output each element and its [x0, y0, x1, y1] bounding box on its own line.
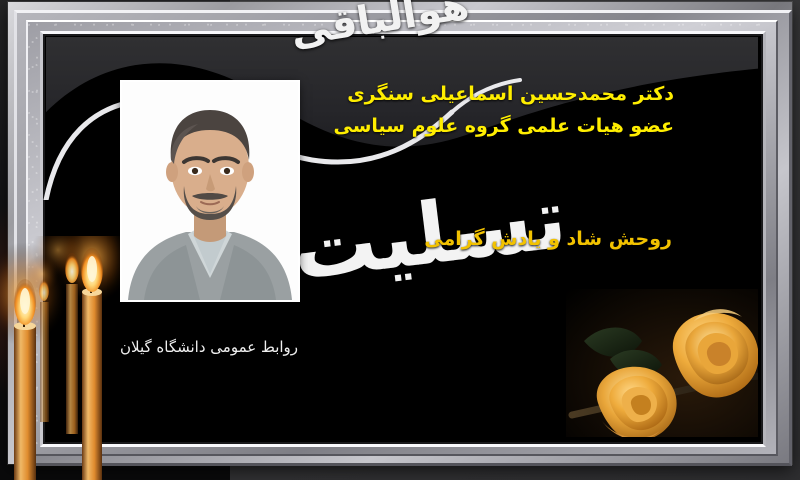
issuing-organization: روابط عمومی دانشگاه گیلان: [120, 338, 298, 356]
deceased-name: دکتر محمدحسین اسماعیلی سنگری: [344, 78, 674, 110]
portrait-photo: [122, 82, 298, 300]
condolence-poster: تسلیت: [0, 0, 800, 480]
portrait-illustration: [122, 82, 298, 300]
deceased-role: عضو هیات علمی گروه علوم سیاسی: [344, 110, 674, 142]
memorial-wish: روحش شاد و یادش گرامی: [424, 228, 672, 250]
announcement-text: دکتر محمدحسین اسماعیلی سنگری عضو هیات عل…: [344, 78, 674, 142]
